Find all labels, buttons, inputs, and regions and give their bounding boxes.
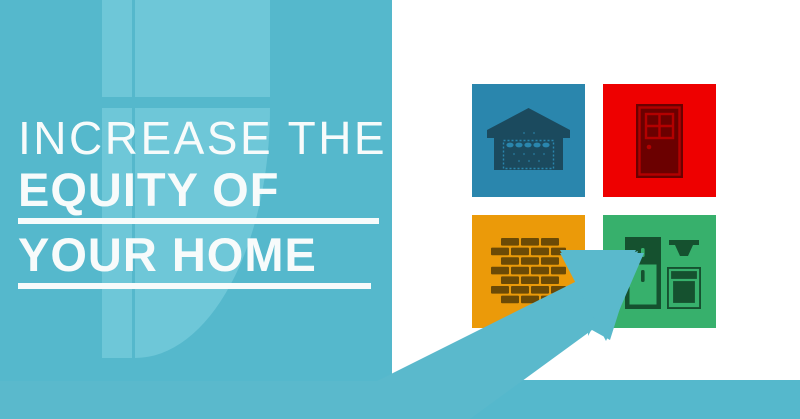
headline-line-1: INCREASE THE [18,112,398,164]
tile-brick-wall[interactable] [472,215,585,328]
garage-icon [472,84,585,197]
headline-underline-2 [18,283,371,289]
headline-line-3: YOUR HOME [18,229,398,281]
front-door-icon [603,84,716,197]
headline-underline-1 [18,218,379,224]
headline-block: INCREASE THE EQUITY OF YOUR HOME [18,112,398,294]
tile-garage[interactable] [472,84,585,197]
icon-tile-grid [472,84,718,330]
bottom-color-band [0,380,800,419]
headline-line-2: EQUITY OF [18,164,398,216]
kitchen-appliances-icon [603,215,716,328]
equity-banner: INCREASE THE EQUITY OF YOUR HOME [0,0,800,419]
tile-front-door[interactable] [603,84,716,197]
watermark-bowl-top [135,0,270,97]
tile-kitchen-appliances[interactable] [603,215,716,328]
brick-wall-icon [472,215,585,328]
watermark-stem-top [102,0,132,97]
